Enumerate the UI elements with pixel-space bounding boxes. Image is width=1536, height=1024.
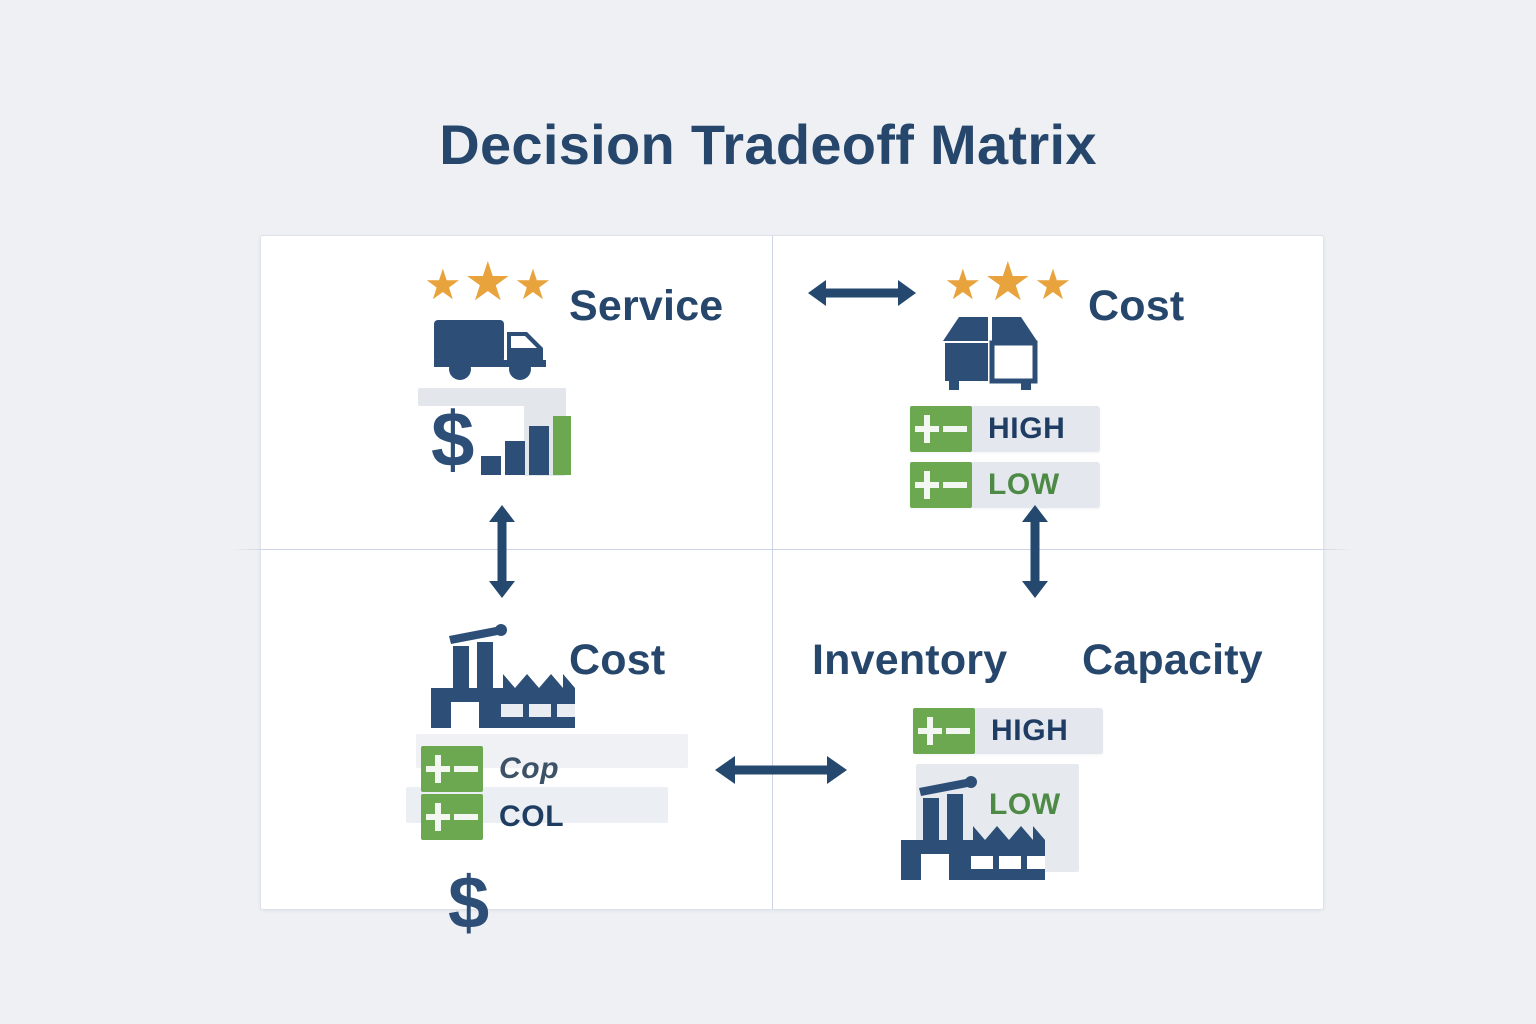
cost-badge-high-label: HIGH <box>988 412 1065 446</box>
cost-badge-cop[interactable]: Cop <box>421 746 589 792</box>
right-vertical-double-arrow <box>1016 503 1054 600</box>
quadrant-label-inventory: Inventory <box>812 636 1007 685</box>
star-icon: ★ <box>424 264 462 306</box>
dollar-sign-icon: $ <box>448 866 489 940</box>
inventory-badge-high-label: HIGH <box>991 714 1068 748</box>
plus-minus-icon <box>913 708 975 754</box>
factory-icon <box>431 624 583 732</box>
truck-icon <box>433 316 551 381</box>
quadrant-divider-horizontal <box>231 549 1353 550</box>
plus-minus-icon <box>910 406 972 452</box>
inventory-badge-high[interactable]: HIGH <box>913 708 1103 754</box>
svg-text:$: $ <box>431 404 474 476</box>
cost-badge-col[interactable]: COL <box>421 794 589 840</box>
plus-minus-icon <box>421 794 483 840</box>
cost-badge-low[interactable]: LOW <box>910 462 1100 508</box>
quadrant-label-cost-bottom: Cost <box>569 636 665 685</box>
quadrant-label-cost-top: Cost <box>1088 282 1184 331</box>
star-icon: ★ <box>984 255 1032 309</box>
top-horizontal-double-arrow <box>806 274 918 312</box>
cost-badge-cop-label: Cop <box>499 752 559 786</box>
quadrant-divider-vertical <box>772 236 773 909</box>
dollar-bar-chart-icon: $ <box>431 404 571 476</box>
left-vertical-double-arrow <box>483 503 521 600</box>
page-title: Decision Tradeoff Matrix <box>0 112 1536 177</box>
star-icon: ★ <box>1034 264 1072 306</box>
quadrant-label-service: Service <box>569 282 723 331</box>
quadrant-label-capacity: Capacity <box>1082 636 1263 685</box>
star-icon: ★ <box>514 264 552 306</box>
cost-star-rating: ★ ★ ★ <box>944 261 1072 309</box>
bottom-horizontal-double-arrow <box>713 750 849 790</box>
cost-badge-high[interactable]: HIGH <box>910 406 1100 452</box>
service-star-rating: ★ ★ ★ <box>424 261 552 309</box>
inventory-badge-low-label: LOW <box>989 788 1061 822</box>
star-icon: ★ <box>944 264 982 306</box>
plus-minus-icon <box>421 746 483 792</box>
star-icon: ★ <box>464 255 512 309</box>
cost-badge-low-label: LOW <box>988 468 1060 502</box>
tradeoff-matrix-card: ★ ★ ★ Service $ ★ ★ ★ Cost <box>260 235 1324 910</box>
plus-minus-icon <box>910 462 972 508</box>
cost-badge-col-label: COL <box>499 800 564 834</box>
open-box-icon <box>935 313 1045 393</box>
